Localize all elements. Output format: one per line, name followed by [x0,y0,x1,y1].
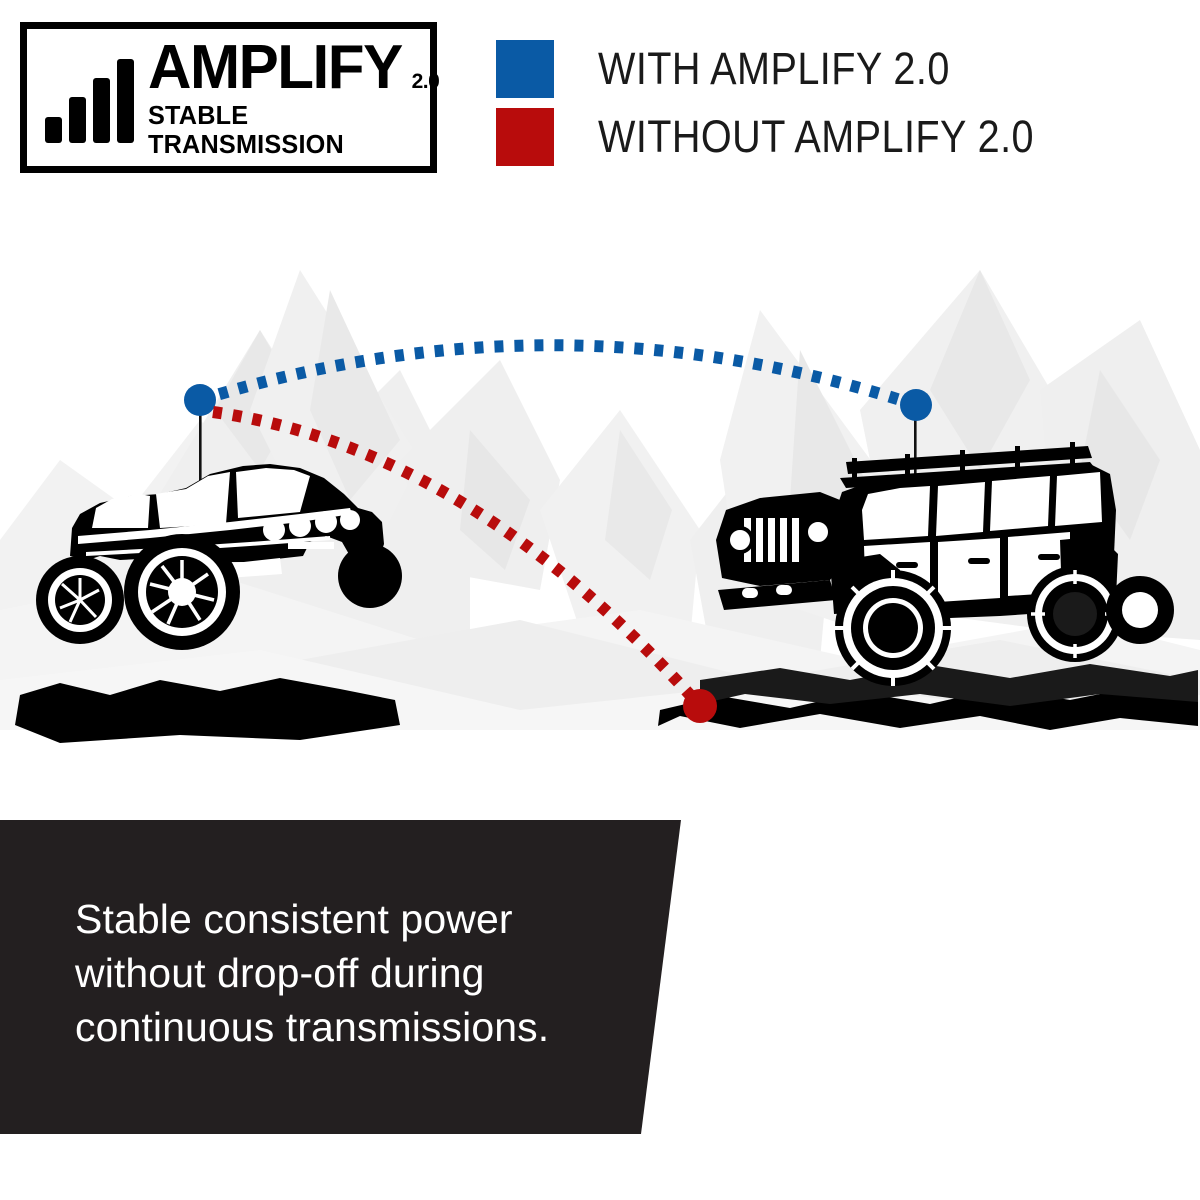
signal-bar-4 [117,59,134,143]
legend-item-with-amplify: WITH AMPLIFY 2.0 [496,40,1093,98]
legend-label-with-amplify: WITH AMPLIFY 2.0 [598,43,950,95]
logo-wordmark: AMPLIFY 2.0 STABLE TRANSMISSION [148,39,439,159]
caption-line-2: without drop-off during [75,946,595,1000]
illustration-scene [0,210,1200,770]
caption-line-1: Stable consistent power [75,892,595,946]
signal-bar-2 [69,97,86,143]
caption-line-3: continuous transmissions. [75,1000,595,1054]
signal-bars-icon [45,59,134,143]
blue-swatch [496,40,554,98]
logo-title-row: AMPLIFY 2.0 [148,39,439,96]
caption-panel: Stable consistent power without drop-off… [0,820,690,1134]
red-swatch [496,108,554,166]
amplify-logo-badge: AMPLIFY 2.0 STABLE TRANSMISSION [20,22,437,173]
signal-bar-3 [93,78,110,143]
legend-label-without-amplify: WITHOUT AMPLIFY 2.0 [598,111,1034,163]
caption-text: Stable consistent power without drop-off… [75,892,595,1054]
logo-version: 2.0 [412,70,440,94]
signal-bar-1 [45,117,62,143]
legend-item-without-amplify: WITHOUT AMPLIFY 2.0 [496,108,1093,166]
logo-contents: AMPLIFY 2.0 STABLE TRANSMISSION [27,29,430,166]
legend: WITH AMPLIFY 2.0 WITHOUT AMPLIFY 2.0 [496,40,1093,176]
logo-title: AMPLIFY [148,39,402,96]
logo-subtitle: STABLE TRANSMISSION [148,102,436,160]
